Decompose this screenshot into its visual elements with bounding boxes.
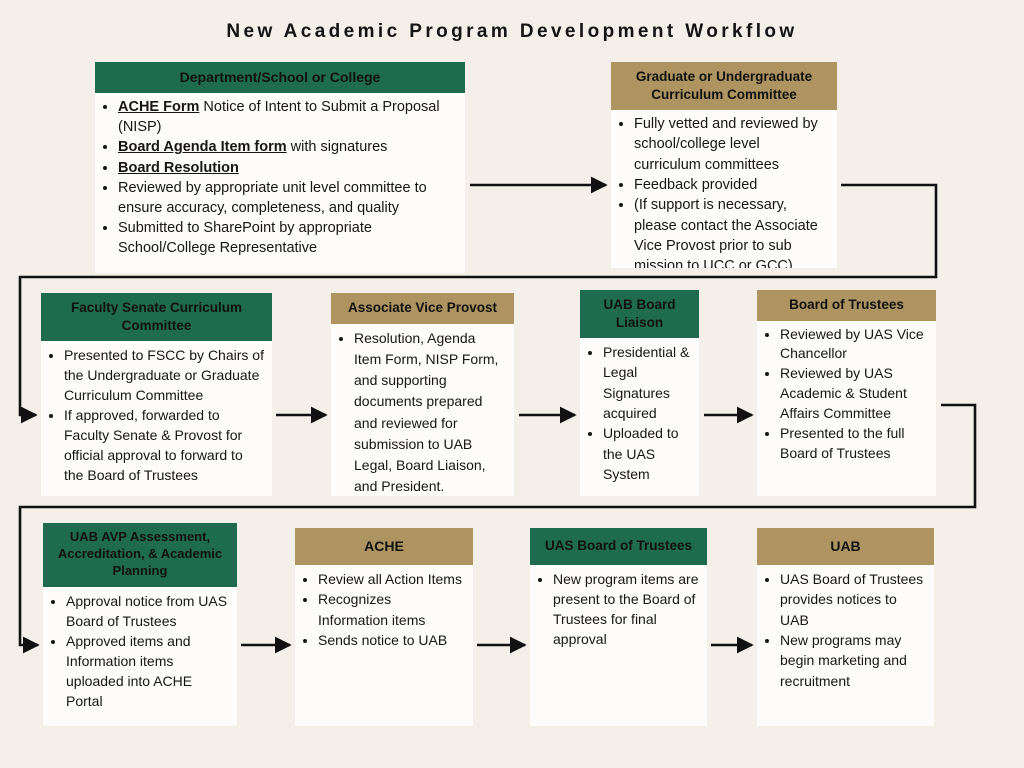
node-header: Department/School or College <box>95 62 465 93</box>
bullet-list: Fully vetted and reviewed by school/coll… <box>615 114 829 268</box>
bullet-list: Review all Action ItemsRecognizes Inform… <box>299 569 465 650</box>
bullet-item: Board Agenda Item form with signatures <box>118 137 457 157</box>
node-body: UAS Board of Trustees provides notices t… <box>757 565 934 697</box>
bullet-item: ACHE Form Notice of Intent to Submit a P… <box>118 97 457 137</box>
bullet-item: Resolution, Agenda Item Form, NISP Form,… <box>354 328 506 496</box>
bullet-item: Approved items and Information items upl… <box>66 631 229 711</box>
node-uab[interactable]: UAB UAS Board of Trustees provides notic… <box>757 528 934 726</box>
bullet-list: Presidential & Legal Signatures acquired… <box>584 342 691 484</box>
node-header: UAS Board of Trustees <box>530 528 707 565</box>
bullet-list: UAS Board of Trustees provides notices t… <box>761 569 926 691</box>
bullet-item: Uploaded to the UAS System <box>603 423 691 484</box>
bullet-item: Reviewed by UAS Vice Chancellor <box>780 325 928 365</box>
node-associate-vice-provost[interactable]: Associate Vice Provost Resolution, Agend… <box>331 293 514 496</box>
bullet-list: ACHE Form Notice of Intent to Submit a P… <box>99 97 457 258</box>
bullet-item: Presented to FSCC by Chairs of the Under… <box>64 345 264 405</box>
node-body: Review all Action ItemsRecognizes Inform… <box>295 565 473 656</box>
bullet-item: Board Resolution <box>118 158 457 178</box>
node-faculty-senate-curriculum-committee[interactable]: Faculty Senate Curriculum Committee Pres… <box>41 293 272 496</box>
node-body: Resolution, Agenda Item Form, NISP Form,… <box>331 324 514 496</box>
bullet-item: (If support is necessary, please contact… <box>634 195 829 268</box>
bullet-item: Presidential & Legal Signatures acquired <box>603 342 691 423</box>
bullet-item: Approval notice from UAS Board of Truste… <box>66 591 229 631</box>
bullet-item: UAS Board of Trustees provides notices t… <box>780 569 926 630</box>
node-body: Approval notice from UAS Board of Truste… <box>43 587 237 717</box>
node-board-of-trustees[interactable]: Board of Trustees Reviewed by UAS Vice C… <box>757 290 936 496</box>
workflow-diagram: New Academic Program Development Workflo… <box>0 0 1024 768</box>
bullet-item: New program items are present to the Boa… <box>553 569 699 650</box>
bullet-item: Review all Action Items <box>318 569 465 589</box>
node-graduate-or-undergraduate-curriculum-committee[interactable]: Graduate or Undergraduate Curriculum Com… <box>611 62 837 268</box>
bullet-item: If approved, forwarded to Faculty Senate… <box>64 405 264 485</box>
bullet-lead: Board Resolution <box>118 160 239 176</box>
node-body: Presidential & Legal Signatures acquired… <box>580 338 699 490</box>
node-ache[interactable]: ACHE Review all Action ItemsRecognizes I… <box>295 528 473 726</box>
node-body: New program items are present to the Boa… <box>530 565 707 656</box>
node-body: Reviewed by UAS Vice ChancellorReviewed … <box>757 321 936 470</box>
node-department-school-or-college[interactable]: Department/School or College ACHE Form N… <box>95 62 465 273</box>
node-header: UAB AVP Assessment, Accreditation, & Aca… <box>43 523 237 587</box>
node-uas-board-of-trustees[interactable]: UAS Board of Trustees New program items … <box>530 528 707 726</box>
page-title: New Academic Program Development Workflo… <box>0 21 1024 43</box>
bullet-lead: Board Agenda Item form <box>118 139 287 155</box>
node-header: UAB Board Liaison <box>580 290 699 338</box>
bullet-list: Resolution, Agenda Item Form, NISP Form,… <box>335 328 506 496</box>
bullet-item: Submitted to SharePoint by appropriate S… <box>118 218 457 258</box>
bullet-lead: ACHE Form <box>118 99 199 115</box>
bullet-item: Reviewed by UAS Academic & Student Affai… <box>780 364 928 424</box>
bullet-list: Approval notice from UAS Board of Truste… <box>47 591 229 711</box>
bullet-list: Presented to FSCC by Chairs of the Under… <box>45 345 264 485</box>
bullet-list: New program items are present to the Boa… <box>534 569 699 650</box>
bullet-list: Reviewed by UAS Vice ChancellorReviewed … <box>761 325 928 464</box>
bullet-item: Recognizes Information items <box>318 589 465 630</box>
node-header: Faculty Senate Curriculum Committee <box>41 293 272 341</box>
node-header: Graduate or Undergraduate Curriculum Com… <box>611 62 837 110</box>
bullet-item: New programs may begin marketing and rec… <box>780 630 926 691</box>
node-uab-board-liaison[interactable]: UAB Board Liaison Presidential & Legal S… <box>580 290 699 496</box>
node-body: ACHE Form Notice of Intent to Submit a P… <box>95 93 465 264</box>
node-header: Associate Vice Provost <box>331 293 514 324</box>
bullet-item: Sends notice to UAB <box>318 630 465 650</box>
node-header: Board of Trustees <box>757 290 936 321</box>
bullet-item: Reviewed by appropriate unit level commi… <box>118 178 457 218</box>
node-body: Presented to FSCC by Chairs of the Under… <box>41 341 272 491</box>
node-uab-avp-assessment-accreditation-academic-planning[interactable]: UAB AVP Assessment, Accreditation, & Aca… <box>43 523 237 726</box>
node-header: UAB <box>757 528 934 565</box>
bullet-item: Feedback provided <box>634 175 829 195</box>
node-header: ACHE <box>295 528 473 565</box>
node-body: Fully vetted and reviewed by school/coll… <box>611 110 837 268</box>
bullet-item: Fully vetted and reviewed by school/coll… <box>634 114 829 175</box>
bullet-item: Presented to the full Board of Trustees <box>780 424 928 464</box>
